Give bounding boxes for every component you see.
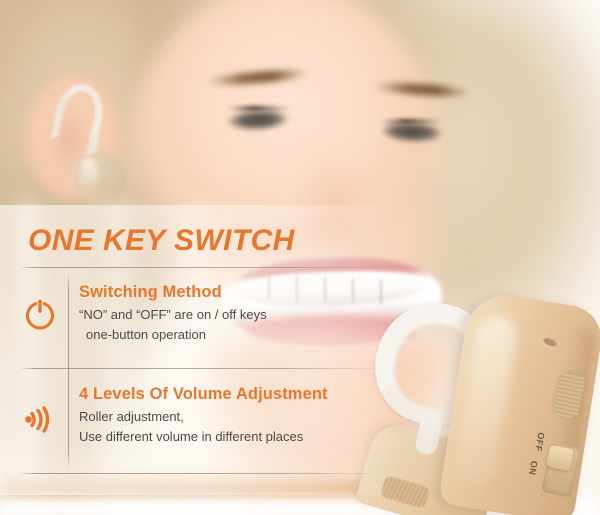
- divider-middle: [20, 368, 387, 369]
- power-icon: [18, 291, 62, 335]
- divider-bottom: [20, 473, 387, 474]
- page-title: ONE KEY SWITCH: [28, 224, 295, 258]
- feature-row-volume-adjustment: 4 Levels Of Volume Adjustment Roller adj…: [0, 377, 400, 472]
- feature-line: “NO” and “OFF” are on / off keys: [79, 306, 389, 323]
- feature-text-switching-method: Switching Method “NO” and “OFF” are on /…: [79, 281, 389, 344]
- feature-row-switching-method: Switching Method “NO” and “OFF” are on /…: [0, 275, 400, 367]
- feature-panel: ONE KEY SWITCH Switching Method “NO” and…: [0, 205, 400, 495]
- feature-text-volume-adjustment: 4 Levels Of Volume Adjustment Roller adj…: [79, 383, 389, 446]
- on-off-switch-knob: [546, 445, 574, 472]
- feature-heading: 4 Levels Of Volume Adjustment: [79, 383, 389, 405]
- feature-line: Roller adjustment,: [79, 408, 389, 425]
- hearing-aid-product: OFF ON: [370, 285, 600, 515]
- feature-heading: Switching Method: [79, 281, 389, 303]
- worn-hearing-aid-highlight: [80, 158, 98, 192]
- volume-waves-icon: [18, 393, 62, 437]
- feature-line: Use different volume in different places: [79, 428, 389, 445]
- feature-line: one-button operation: [79, 326, 389, 343]
- divider-top: [20, 267, 387, 268]
